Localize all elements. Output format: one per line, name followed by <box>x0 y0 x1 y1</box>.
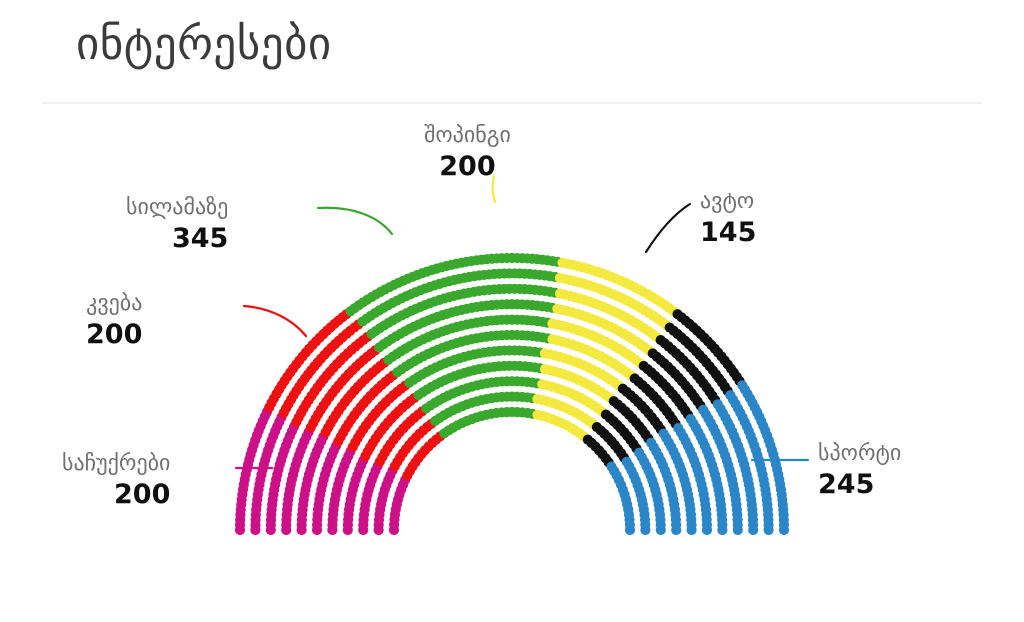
seat-dot <box>687 525 697 535</box>
segment-name-1: კვება <box>86 290 142 318</box>
segment-value-1: 200 <box>86 319 142 351</box>
segment-label-5[interactable]: სპორტი 245 <box>818 440 901 501</box>
seat-dot <box>702 525 712 535</box>
seat-dot <box>717 525 727 535</box>
segment-name-0: საჩუქრები <box>62 450 170 478</box>
seat-dot <box>625 525 635 535</box>
segment-name-4: ავტო <box>700 188 756 216</box>
segment-label-1[interactable]: კვება 200 <box>86 290 142 351</box>
seat-dot <box>640 525 650 535</box>
leader-line-4 <box>646 204 690 252</box>
seat-dot <box>656 525 666 535</box>
segment-label-0[interactable]: საჩუქრები 200 <box>62 450 170 511</box>
segment-value-3: 200 <box>424 151 511 183</box>
leader-line-1 <box>244 306 306 336</box>
seat-dot <box>748 525 758 535</box>
seat-dot <box>671 525 681 535</box>
segment-name-2: სილამაზე <box>126 194 228 222</box>
segment-label-2[interactable]: სილამაზე 345 <box>126 194 228 255</box>
segment-name-5: სპორტი <box>818 440 901 468</box>
segment-value-2: 345 <box>126 223 228 255</box>
segment-label-4[interactable]: ავტო 145 <box>700 188 756 249</box>
segment-label-3[interactable]: შოპინგი 200 <box>424 122 511 183</box>
segment-value-4: 145 <box>700 217 756 249</box>
seat-dot <box>779 525 789 535</box>
segment-name-3: შოპინგი <box>424 122 511 150</box>
hemicycle-chart: საჩუქრები 200 კვება 200 სილამაზე 345 შოპ… <box>0 104 1024 622</box>
segment-value-0: 200 <box>62 479 170 511</box>
page-title: ინტერესები <box>76 18 332 70</box>
seat-dot <box>733 525 743 535</box>
hemicycle-dot-plot <box>0 104 1024 622</box>
seat-dot <box>764 525 774 535</box>
leader-line-2 <box>318 208 392 234</box>
segment-value-5: 245 <box>818 469 901 501</box>
dot-layer <box>235 253 789 535</box>
